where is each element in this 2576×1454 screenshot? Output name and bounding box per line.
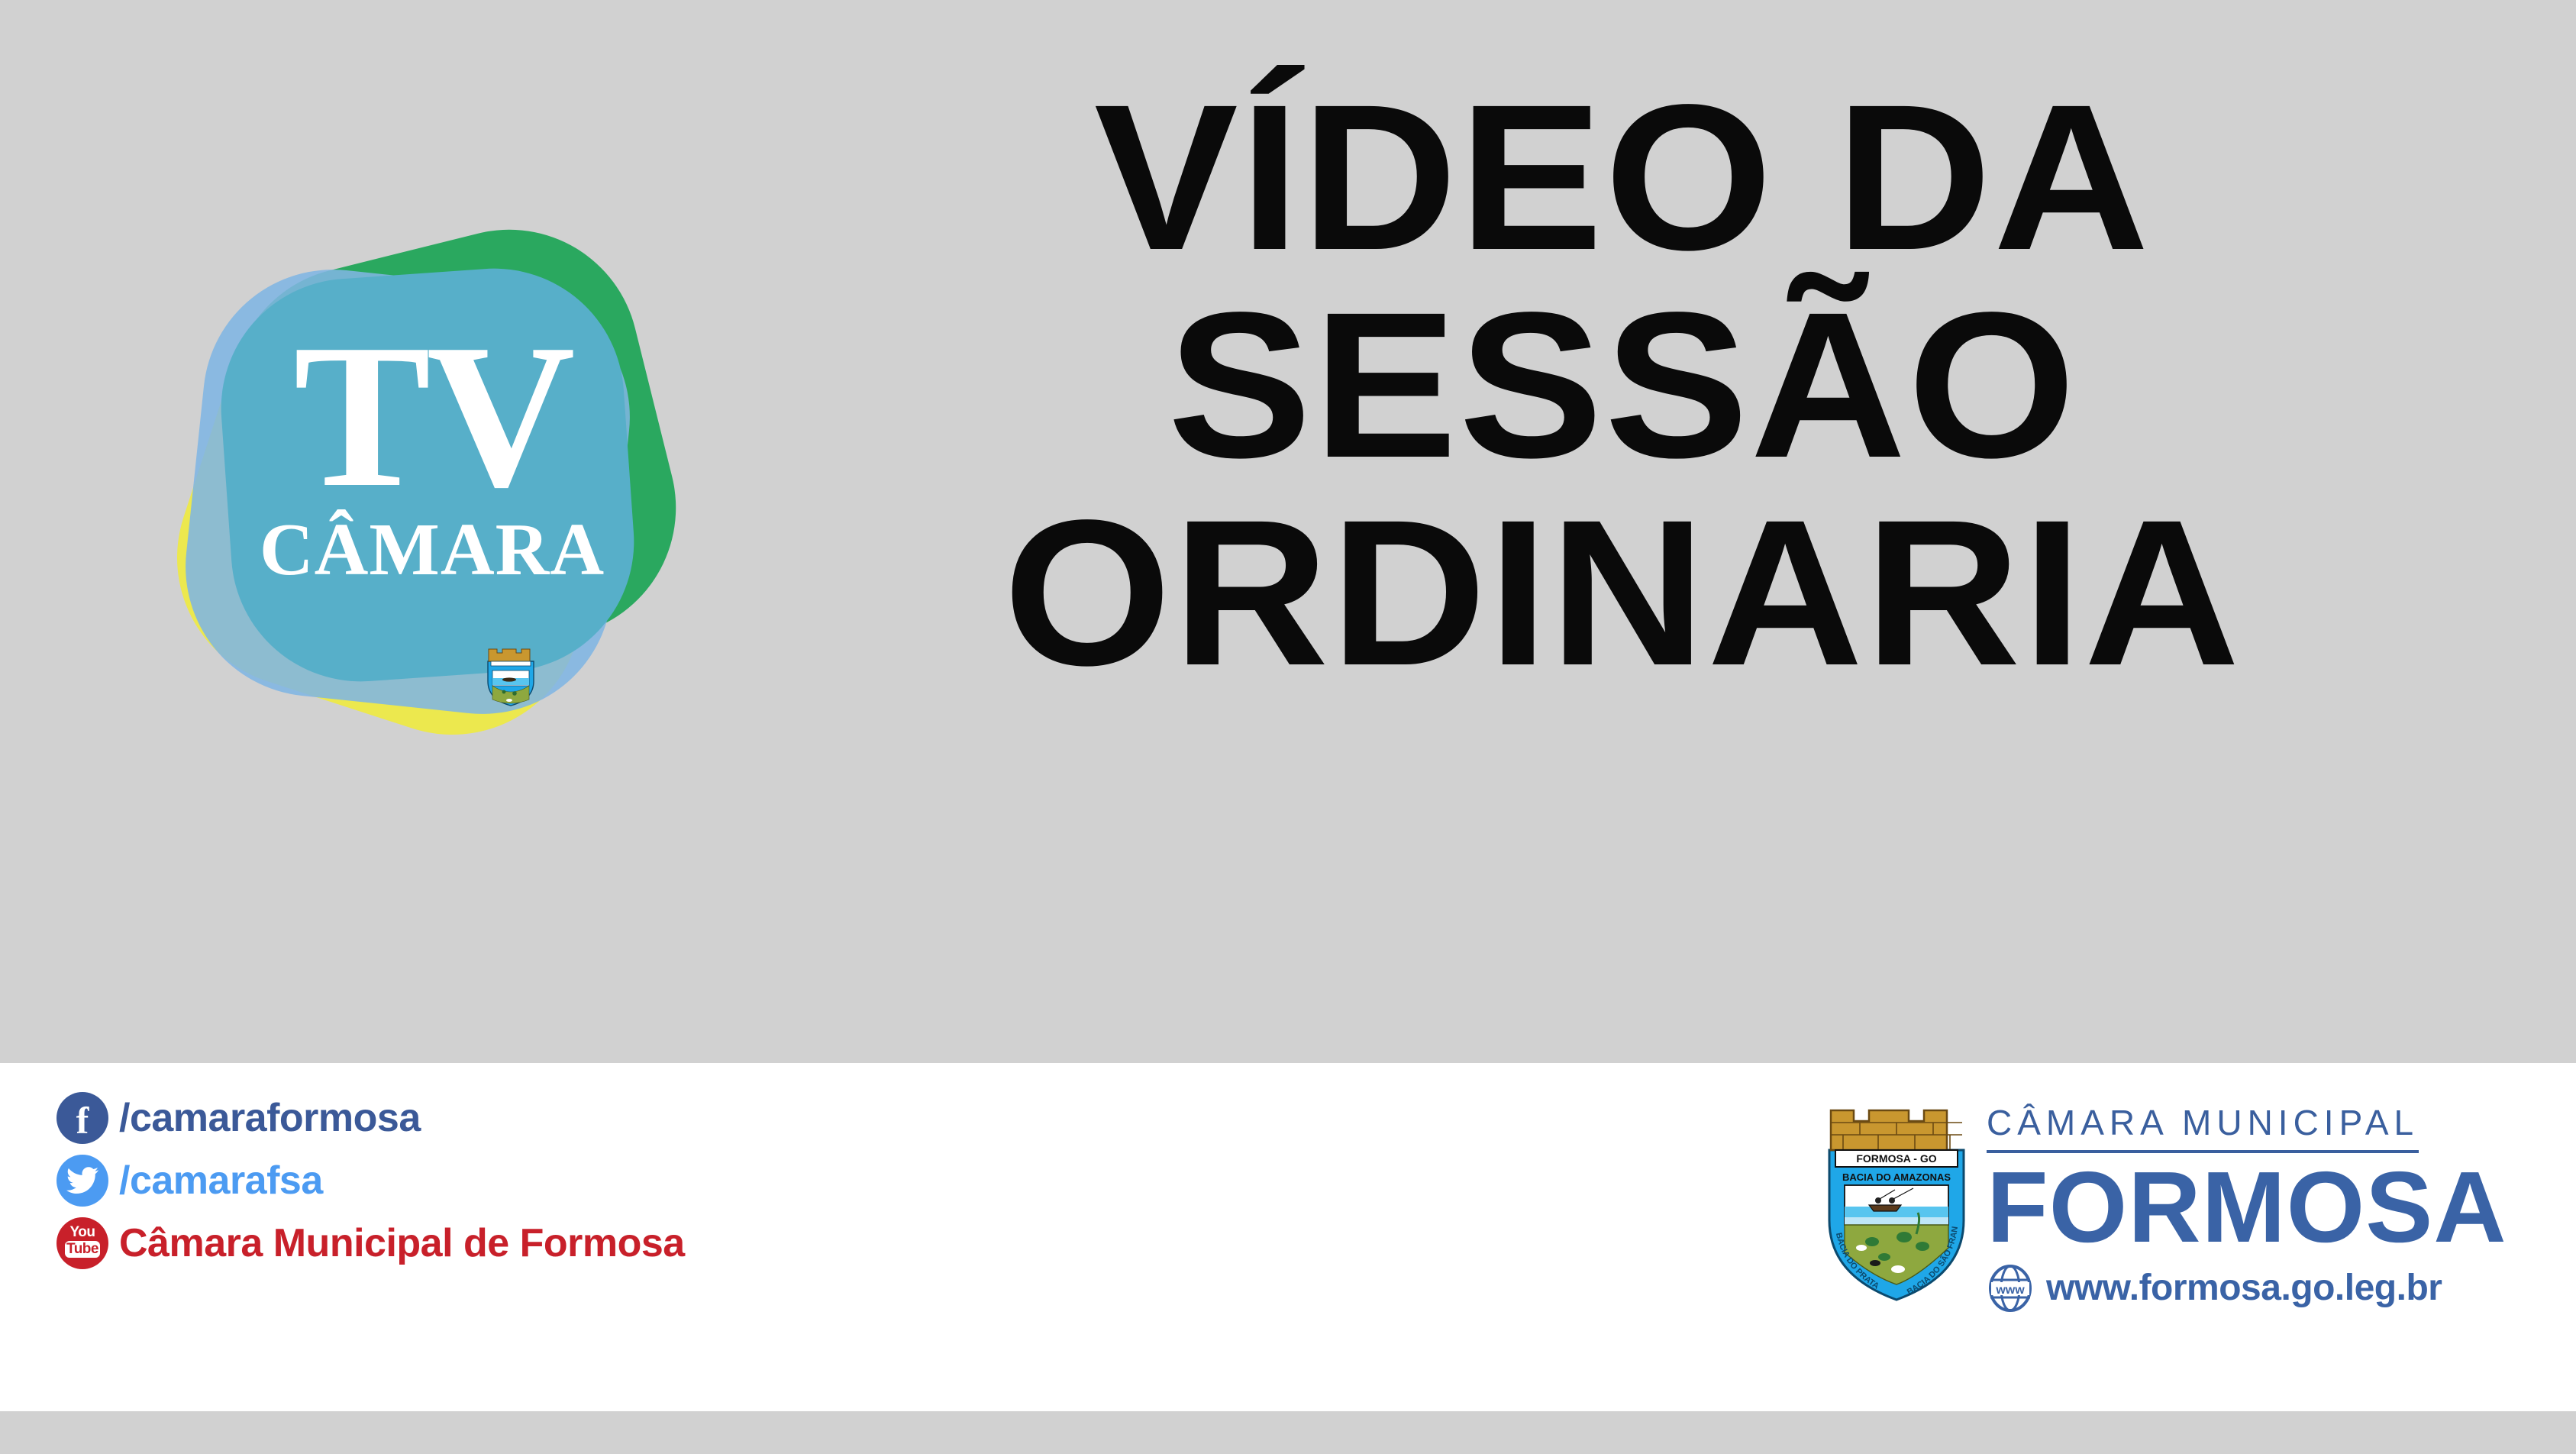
logo-shape-teal <box>212 260 643 690</box>
brand-website-url[interactable]: www.formosa.go.leg.br <box>2046 1269 2442 1307</box>
brand-subtitle: CÂMARA MUNICIPAL <box>1987 1103 2507 1142</box>
coat-of-arms-icon: FORMOSA - GO BACIA DO AMAZONAS <box>1825 1106 1968 1304</box>
youtube-mark-top: You <box>62 1225 103 1239</box>
crest-top-band-label: FORMOSA - GO <box>1856 1152 1936 1165</box>
hero-title-line-1: VÍDEO DA <box>697 73 2547 281</box>
www-globe-icon: www <box>1987 1265 2034 1312</box>
facebook-handle[interactable]: /camaraformosa <box>119 1097 421 1139</box>
brand-website-row[interactable]: www www.formosa.go.leg.br <box>1987 1265 2507 1312</box>
social-row-twitter[interactable]: /camarafsa <box>56 1155 1125 1207</box>
hero-title-line-3: ORDINARIA <box>697 489 2547 696</box>
youtube-mark-bottom: Tube <box>65 1241 100 1258</box>
tv-camara-logo: TV CÂMARA <box>150 229 730 764</box>
svg-text:www: www <box>1995 1284 2025 1297</box>
hero-title-line-2: SESSÃO <box>697 281 2547 489</box>
hero-section: TV CÂMARA VÍDEO DA SESSÃO ORDINARIA <box>0 0 2576 1063</box>
twitter-bird-glyph <box>66 1167 98 1194</box>
facebook-glyph: f <box>56 1092 108 1144</box>
brand-title: FORMOSA <box>1987 1159 2507 1255</box>
brand-text-block: CÂMARA MUNICIPAL FORMOSA www www.formosa… <box>1987 1094 2507 1312</box>
youtube-glyph: You Tube <box>62 1225 103 1262</box>
twitter-icon[interactable] <box>56 1155 108 1207</box>
social-row-youtube[interactable]: You Tube Câmara Municipal de Formosa <box>56 1217 1125 1269</box>
hero-title: VÍDEO DA SESSÃO ORDINARIA <box>733 73 2512 696</box>
youtube-channel-name[interactable]: Câmara Municipal de Formosa <box>119 1223 685 1264</box>
brand-lockup: FORMOSA - GO BACIA DO AMAZONAS <box>1825 1094 2527 1399</box>
crest-second-band-label: BACIA DO AMAZONAS <box>1842 1171 1951 1183</box>
facebook-icon[interactable]: f <box>56 1092 108 1144</box>
coat-of-arms-mini-icon <box>486 648 536 707</box>
twitter-handle[interactable]: /camarafsa <box>119 1160 323 1201</box>
social-row-facebook[interactable]: f /camaraformosa <box>56 1092 1125 1144</box>
bottom-strip <box>0 1411 2576 1454</box>
slide-canvas: TV CÂMARA VÍDEO DA SESSÃO ORDINARIA <box>0 0 2576 1454</box>
youtube-icon[interactable]: You Tube <box>56 1217 108 1269</box>
social-links-list: f /camaraformosa /camarafsa You Tube Câm… <box>56 1092 1125 1280</box>
